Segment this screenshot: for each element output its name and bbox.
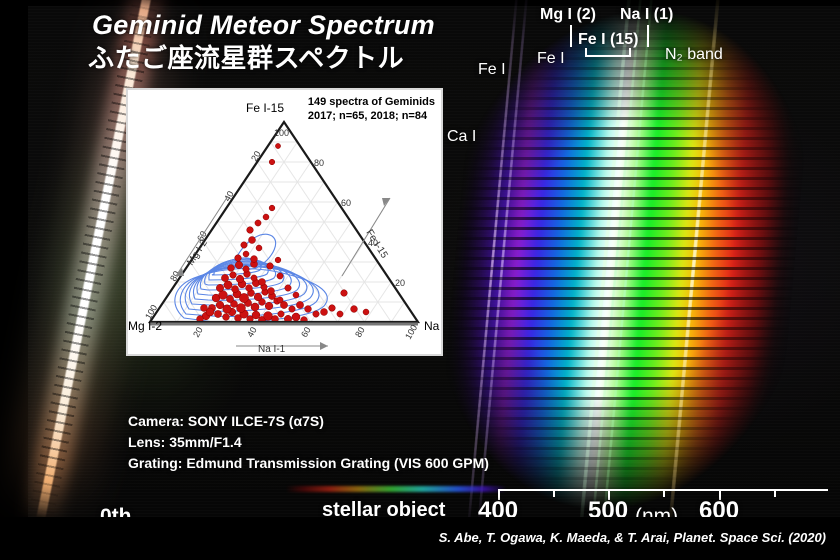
inset-heading: 149 spectra of Geminids 2017; n=65, 2018… — [308, 95, 435, 123]
label-fe-i-lower: Fe I — [478, 61, 506, 79]
citation-text: S. Abe, T. Ogawa, K. Maeda, & T. Arai, P… — [439, 530, 826, 545]
stellar-reference-spectrum — [286, 486, 506, 492]
axis-tick-650 — [774, 489, 776, 497]
slide-root: Geminid Meteor Spectrum ふたご座流星群スペクトル — [0, 0, 840, 560]
pointer-tick-mg-i-2 — [570, 25, 572, 47]
pointer-tick-na-i-1 — [647, 25, 649, 47]
equipment-info: Camera: SONY ILCE-7S (α7S) Lens: 35mm/F1… — [128, 411, 489, 474]
svg-text:60: 60 — [299, 325, 313, 339]
svg-text:Mg I-2: Mg I-2 — [185, 238, 210, 268]
label-na-i-1: Na I (1) — [620, 6, 673, 24]
ternary-diagram-svg: 100 20 40 60 80 100 80 60 40 20 20 40 60… — [128, 90, 441, 354]
svg-text:Fe I-15: Fe I-15 — [246, 101, 284, 115]
page-title-japanese: ふたご座流星群スペクトル — [88, 38, 404, 75]
ternary-diagram-inset: 100 20 40 60 80 100 80 60 40 20 20 40 60… — [126, 88, 443, 356]
equipment-camera: Camera: SONY ILCE-7S (α7S) — [128, 411, 489, 432]
svg-text:20: 20 — [249, 149, 263, 163]
ternary-right-ticks: 80 60 40 20 — [314, 158, 405, 288]
inset-heading-line1: 149 spectra of Geminids — [308, 95, 435, 109]
bracket-fe-i-15 — [585, 48, 631, 57]
equipment-lens: Lens: 35mm/F1.4 — [128, 432, 489, 453]
footer-bar: S. Abe, T. Ogawa, K. Maeda, & T. Arai, P… — [0, 517, 840, 560]
svg-text:80: 80 — [353, 325, 367, 339]
label-fe-i-15: Fe I (15) — [578, 31, 638, 49]
page-title-english: Geminid Meteor Spectrum — [92, 10, 435, 41]
svg-text:40: 40 — [245, 325, 259, 339]
inset-heading-line2: 2017; n=65, 2018; n=84 — [308, 109, 435, 123]
svg-text:Mg I-2: Mg I-2 — [128, 319, 162, 333]
svg-text:20: 20 — [191, 325, 205, 339]
svg-text:100: 100 — [274, 128, 289, 138]
svg-text:Na I-1: Na I-1 — [258, 344, 286, 354]
axis-tick-550 — [663, 489, 665, 497]
svg-text:40: 40 — [222, 189, 236, 203]
svg-text:20: 20 — [395, 278, 405, 288]
axis-tick-450 — [553, 489, 555, 497]
svg-text:60: 60 — [341, 198, 351, 208]
svg-text:Na I-1: Na I-1 — [424, 319, 441, 333]
label-n2-band: N₂ band — [665, 46, 723, 64]
equipment-grating: Grating: Edmund Transmission Grating (VI… — [128, 453, 489, 474]
svg-text:100: 100 — [403, 323, 419, 341]
label-ca-i: Ca I — [447, 128, 476, 146]
label-fe-i-upper: Fe I — [537, 50, 565, 68]
svg-text:80: 80 — [314, 158, 324, 168]
ternary-bottom-ticks: 20 40 60 80 100 — [191, 323, 419, 341]
label-mg-i-2: Mg I (2) — [540, 6, 596, 24]
